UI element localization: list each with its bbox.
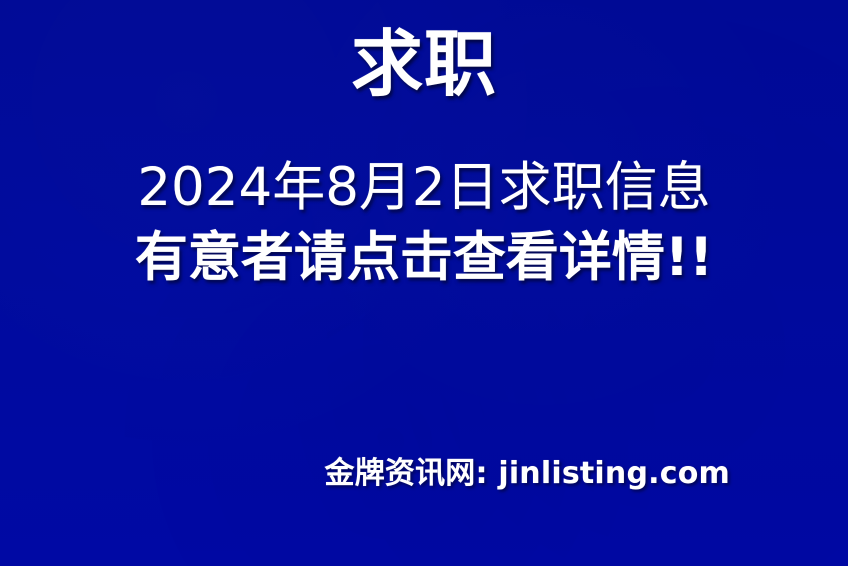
call-to-action-line: 有意者请点击查看详情!! <box>0 228 848 287</box>
page-title: 求职 <box>0 28 848 100</box>
site-credit: 金牌资讯网: jinlisting.com <box>0 456 730 492</box>
posting-date-line: 2024年8月2日求职信息 <box>0 158 848 217</box>
job-posting-banner: 求职 2024年8月2日求职信息 有意者请点击查看详情!! 金牌资讯网: jin… <box>0 0 848 566</box>
